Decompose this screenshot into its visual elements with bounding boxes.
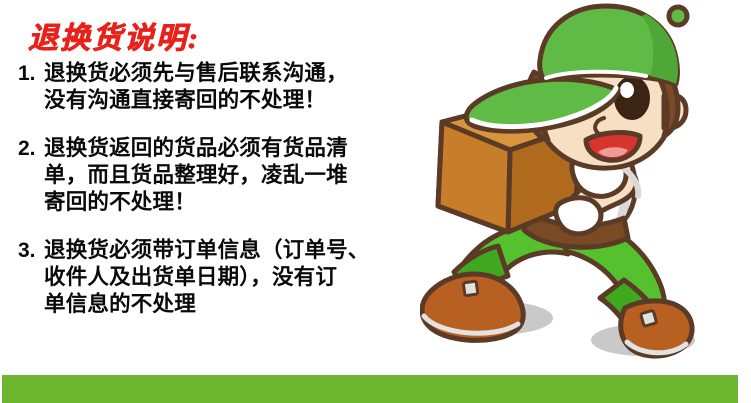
list-item-text: 退换货必须先与售后联系沟通， 没有沟通直接寄回的不处理！ <box>44 60 430 114</box>
green-divider-bar <box>2 375 738 403</box>
list-item: 2. 退换货返回的货品必须有货品清 单，而且货品整理好，凌乱一堆 寄回的不处理！ <box>18 135 430 216</box>
shoe-front-tag <box>463 281 478 296</box>
list-item-number: 3. <box>18 237 44 264</box>
policy-text-column: 退换货说明: 1. 退换货必须先与售后联系沟通， 没有沟通直接寄回的不处理！ 2… <box>18 22 430 318</box>
list-item-number: 1. <box>18 60 44 87</box>
eye-right <box>615 77 649 119</box>
shoe-back-tag <box>641 310 657 326</box>
page-title: 退换货说明: <box>28 22 430 56</box>
list-item: 1. 退换货必须先与售后联系沟通， 没有沟通直接寄回的不处理！ <box>18 60 430 114</box>
list-item-number: 2. <box>18 135 44 162</box>
cap-button <box>669 7 687 25</box>
delivery-courier-illustration <box>420 0 751 378</box>
box-center-edge <box>508 150 510 232</box>
list-item: 3. 退换货必须带订单信息（订单号、 收件人及出货单日期），没有订 单信息的不处… <box>18 237 430 318</box>
return-policy-banner: 退换货说明: 1. 退换货必须先与售后联系沟通， 没有沟通直接寄回的不处理！ 2… <box>0 0 751 403</box>
list-item-text: 退换货必须带订单信息（订单号、 收件人及出货单日期），没有订 单信息的不处理 <box>44 237 430 318</box>
courier-icon <box>420 0 751 378</box>
eye-right-highlight <box>620 82 634 98</box>
hand-cuff-lower <box>556 198 601 234</box>
list-item-text: 退换货返回的货品必须有货品清 单，而且货品整理好，凌乱一堆 寄回的不处理！ <box>44 135 430 216</box>
